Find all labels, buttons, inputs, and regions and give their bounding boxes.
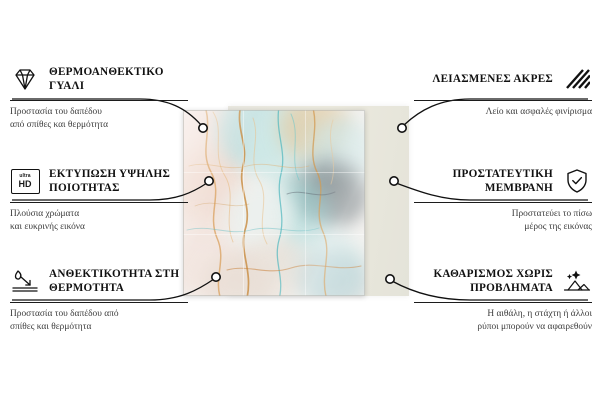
feature-header: ΛΕΙΑΣΜΕΝΕΣ ΑΚΡΕΣ	[414, 62, 592, 96]
feature-title: ΠΡΟΣΤΑΤΕΥΤΙΚΗ ΜΕΜΒΡΑΝΗ	[414, 167, 553, 196]
divider	[10, 100, 188, 101]
feature-title: ΘΕΡΜΟΑΝΘΕΚΤΙΚΟ ΓΥΑΛΙ	[49, 65, 188, 94]
divider	[414, 302, 592, 303]
feature-header: ultra HD ΕΚΤΥΠΩΣΗ ΥΨΗΛΗΣ ΠΟΙΟΤΗΤΑΣ	[10, 164, 188, 198]
feature-desc-line: Πλούσια χρώματα	[10, 208, 188, 221]
divider	[10, 302, 188, 303]
feature-desc-line: σπίθες και θερμότητα	[10, 321, 188, 334]
feature-description: Πλούσια χρώματα και ευκρινής εικόνα	[10, 208, 188, 234]
feature-description: Η αιθάλη, η στάχτη ή άλλοι ρύποι μπορούν…	[414, 308, 592, 334]
feature-description: Προστασία του δαπέδου από σπίθες και θερ…	[10, 106, 188, 132]
divider	[414, 202, 592, 203]
feature-heat-resistant-glass: ΘΕΡΜΟΑΝΘΕΚΤΙΚΟ ΓΥΑΛΙ Προστασία του δαπέδ…	[10, 62, 188, 132]
polished-edges-icon	[562, 66, 592, 92]
feature-high-quality-print: ultra HD ΕΚΤΥΠΩΣΗ ΥΨΗΛΗΣ ΠΟΙΟΤΗΤΑΣ Πλούσ…	[10, 164, 188, 234]
feature-heat-durability: ΑΝΘΕΚΤΙΚΟΤΗΤΑ ΣΤΗ ΘΕΡΜΟΤΗΤΑ Προστασία το…	[10, 264, 188, 334]
divider	[414, 100, 592, 101]
shield-check-icon	[562, 168, 592, 194]
feature-protective-membrane: ΠΡΟΣΤΑΤΕΥΤΙΚΗ ΜΕΜΒΡΑΝΗ Προστατεύει το πί…	[414, 164, 592, 234]
product-image	[183, 108, 409, 296]
ultra-hd-icon: ultra HD	[10, 168, 40, 194]
feature-desc-line: Προστατεύει το πίσω	[414, 208, 592, 221]
feature-desc-line: μέρος της εικόνας	[414, 221, 592, 234]
feature-desc-line: Η αιθάλη, η στάχτη ή άλλοι	[414, 308, 592, 321]
sparkle-clean-icon	[562, 268, 592, 294]
feature-header: ΠΡΟΣΤΑΤΕΥΤΙΚΗ ΜΕΜΒΡΑΝΗ	[414, 164, 592, 198]
feature-title: ΑΝΘΕΚΤΙΚΟΤΗΤΑ ΣΤΗ ΘΕΡΜΟΤΗΤΑ	[49, 267, 188, 296]
feature-desc-line: από σπίθες και θερμότητα	[10, 119, 188, 132]
flame-heat-icon	[10, 268, 40, 294]
feature-desc-line: και ευκρινής εικόνα	[10, 221, 188, 234]
diamond-icon	[10, 66, 40, 92]
feature-title: ΛΕΙΑΣΜΕΝΕΣ ΑΚΡΕΣ	[432, 72, 553, 86]
feature-title: ΕΚΤΥΠΩΣΗ ΥΨΗΛΗΣ ΠΟΙΟΤΗΤΑΣ	[49, 167, 188, 196]
feature-desc-line: ρύποι μπορούν να αφαιρεθούν	[414, 321, 592, 334]
ink-veins	[183, 110, 365, 296]
feature-desc-line: Λείο και ασφαλές φινίρισμα	[414, 106, 592, 119]
feature-desc-line: Προστασία του δαπέδου από	[10, 308, 188, 321]
divider	[10, 202, 188, 203]
feature-description: Προστασία του δαπέδου από σπίθες και θερ…	[10, 308, 188, 334]
feature-polished-edges: ΛΕΙΑΣΜΕΝΕΣ ΑΚΡΕΣ Λείο και ασφαλές φινίρι…	[414, 62, 592, 119]
feature-title: ΚΑΘΑΡΙΣΜΟΣ ΧΩΡΙΣ ΠΡΟΒΛΗΜΑΤΑ	[414, 267, 553, 296]
feature-header: ΚΑΘΑΡΙΣΜΟΣ ΧΩΡΙΣ ΠΡΟΒΛΗΜΑΤΑ	[414, 264, 592, 298]
feature-header: ΑΝΘΕΚΤΙΚΟΤΗΤΑ ΣΤΗ ΘΕΡΜΟΤΗΤΑ	[10, 264, 188, 298]
product-glass-front	[183, 110, 365, 296]
feature-header: ΘΕΡΜΟΑΝΘΕΚΤΙΚΟ ΓΥΑΛΙ	[10, 62, 188, 96]
ultra-hd-top-text: ultra	[19, 174, 30, 179]
ultra-hd-bottom-text: HD	[19, 180, 32, 189]
feature-easy-cleaning: ΚΑΘΑΡΙΣΜΟΣ ΧΩΡΙΣ ΠΡΟΒΛΗΜΑΤΑ Η αιθάλη, η …	[414, 264, 592, 334]
infographic-canvas: ΘΕΡΜΟΑΝΘΕΚΤΙΚΟ ΓΥΑΛΙ Προστασία του δαπέδ…	[0, 0, 600, 400]
feature-description: Προστατεύει το πίσω μέρος της εικόνας	[414, 208, 592, 234]
feature-description: Λείο και ασφαλές φινίρισμα	[414, 106, 592, 119]
feature-desc-line: Προστασία του δαπέδου	[10, 106, 188, 119]
